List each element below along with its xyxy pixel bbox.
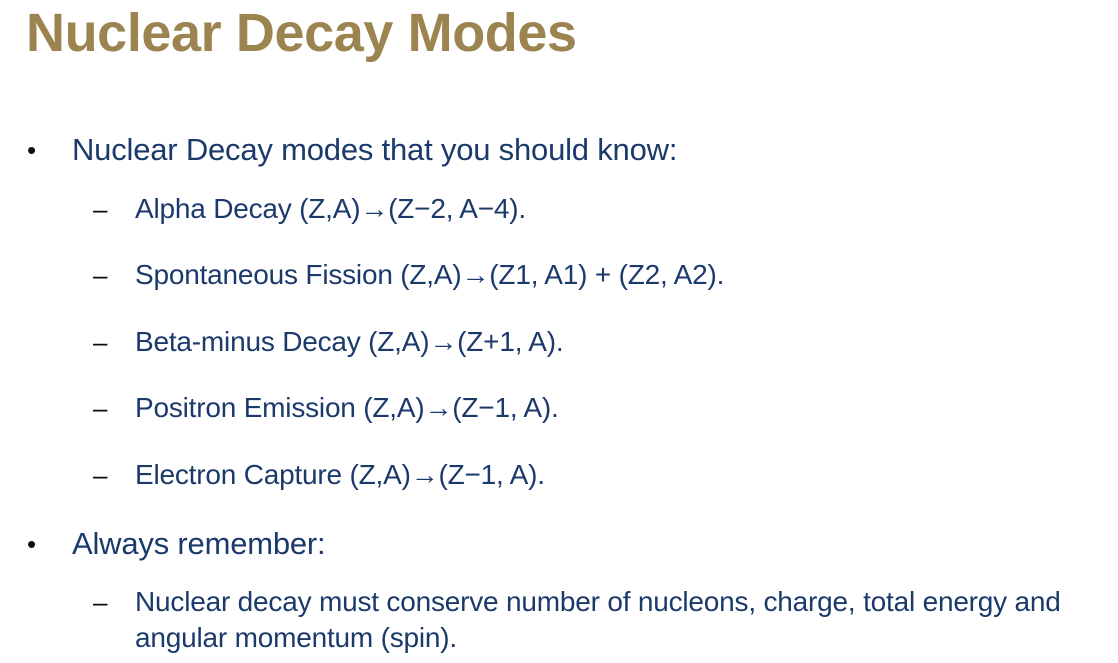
list-item: – Spontaneous Fission (Z,A)→(Z1, A1) + (… [0,258,1118,292]
list-item: • Nuclear Decay modes that you should kn… [0,131,1118,169]
bullet-dash-icon: – [93,391,117,425]
bullet-text: Positron Emission (Z,A)→(Z−1, A). [135,392,559,423]
bullet-item-level2-electron-capture: – Electron Capture (Z,A)→(Z−1, A). [0,458,1118,492]
bullet-item-level2-positron-emission: – Positron Emission (Z,A)→(Z−1, A). [0,391,1118,425]
list-item: – Positron Emission (Z,A)→(Z−1, A). [0,391,1118,425]
bullet-dash-icon: – [93,584,117,620]
bullet-item-level1: • Nuclear Decay modes that you should kn… [0,131,1118,169]
bullet-text: Nuclear Decay modes that you should know… [72,132,677,167]
list-item: – Alpha Decay (Z,A)→(Z−2, A−4). [0,192,1118,226]
bullet-text: Electron Capture (Z,A)→(Z−1, A). [135,459,545,490]
bullet-text: Always remember: [72,526,325,561]
bullet-item-level2-alpha-decay: – Alpha Decay (Z,A)→(Z−2, A−4). [0,192,1118,226]
list-item: – Beta-minus Decay (Z,A)→(Z+1, A). [0,325,1118,359]
bullet-dash-icon: – [93,192,117,226]
bullet-text: Spontaneous Fission (Z,A)→(Z1, A1) + (Z2… [135,259,724,290]
list-item: – Nuclear decay must conserve number of … [0,584,1118,656]
bullet-item-level1-always-remember: • Always remember: [0,525,1118,563]
bullet-text: Nuclear decay must conserve number of nu… [135,586,1061,653]
bullet-item-level2-spontaneous-fission: – Spontaneous Fission (Z,A)→(Z1, A1) + (… [0,258,1118,292]
bullet-dot-icon: • [27,131,41,169]
slide-canvas: Nuclear Decay Modes • Nuclear Decay mode… [0,0,1118,663]
bullet-item-level2-beta-minus-decay: – Beta-minus Decay (Z,A)→(Z+1, A). [0,325,1118,359]
bullet-text: Beta-minus Decay (Z,A)→(Z+1, A). [135,326,564,357]
bullet-text: Alpha Decay (Z,A)→(Z−2, A−4). [135,193,526,224]
list-item: • Always remember: [0,525,1118,563]
bullet-dash-icon: – [93,458,117,492]
bullet-dash-icon: – [93,325,117,359]
bullet-item-level2-conservation-note: – Nuclear decay must conserve number of … [0,584,1118,656]
page-title: Nuclear Decay Modes [26,2,577,64]
outline-body: • Nuclear Decay modes that you should kn… [0,118,1118,663]
bullet-dash-icon: – [93,258,117,292]
list-item: – Electron Capture (Z,A)→(Z−1, A). [0,458,1118,492]
bullet-dot-icon: • [27,525,41,563]
